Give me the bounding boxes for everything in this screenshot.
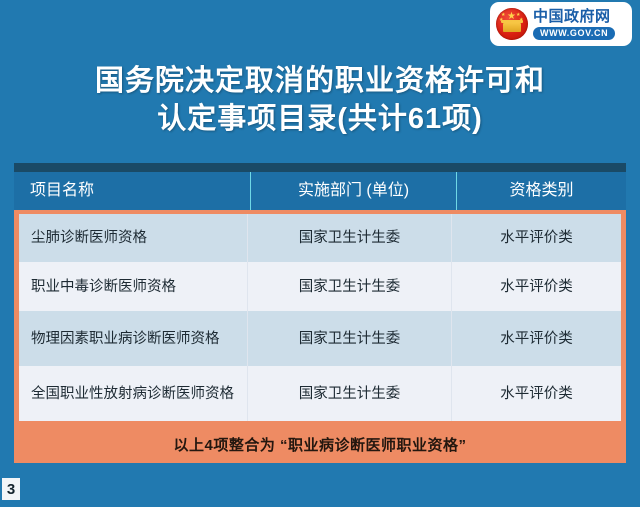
- table-top-accent-bar: [14, 163, 626, 172]
- cell-name: 尘肺诊断医师资格: [19, 214, 247, 262]
- national-emblem-icon: ★ ★ ★ ★ ★: [496, 8, 528, 40]
- cell-name: 职业中毒诊断医师资格: [19, 262, 247, 311]
- cell-department: 国家卫生计生委: [247, 366, 451, 421]
- page-number-badge: 3: [2, 478, 20, 500]
- cell-category: 水平评价类: [451, 262, 621, 311]
- page-title-line2: 认定事项目录(共计61项): [0, 100, 640, 138]
- table-header-row: 项目名称 实施部门 (单位) 资格类别: [14, 172, 626, 210]
- slide: ★ ★ ★ ★ ★ 中国政府网 WWW.GOV.CN 国务院决定取消的职业资格许…: [0, 0, 640, 507]
- page-title: 国务院决定取消的职业资格许可和 认定事项目录(共计61项): [0, 62, 640, 138]
- column-header-department: 实施部门 (单位): [250, 172, 456, 210]
- cell-department: 国家卫生计生委: [247, 311, 451, 366]
- page-title-line1: 国务院决定取消的职业资格许可和: [0, 62, 640, 100]
- cell-department: 国家卫生计生委: [247, 214, 451, 262]
- table-row[interactable]: 职业中毒诊断医师资格 国家卫生计生委 水平评价类: [19, 262, 621, 311]
- column-header-name: 项目名称: [14, 172, 250, 210]
- table-footnote: 以上4项整合为 “职业病诊断医师职业资格”: [14, 426, 626, 463]
- site-name: 中国政府网: [533, 9, 615, 25]
- cell-department: 国家卫生计生委: [247, 262, 451, 311]
- cell-category: 水平评价类: [451, 311, 621, 366]
- cell-name: 全国职业性放射病诊断医师资格: [19, 366, 247, 421]
- qualification-table: 项目名称 实施部门 (单位) 资格类别 尘肺诊断医师资格 国家卫生计生委 水平评…: [14, 163, 626, 463]
- table-row[interactable]: 全国职业性放射病诊断医师资格 国家卫生计生委 水平评价类: [19, 366, 621, 421]
- column-header-category: 资格类别: [456, 172, 626, 210]
- table-row[interactable]: 尘肺诊断医师资格 国家卫生计生委 水平评价类: [19, 214, 621, 262]
- site-url-pill[interactable]: WWW.GOV.CN: [533, 27, 615, 40]
- logo-text-group: 中国政府网 WWW.GOV.CN: [533, 9, 615, 40]
- cell-category: 水平评价类: [451, 214, 621, 262]
- emblem-gate-icon: [503, 23, 521, 32]
- table-body: 尘肺诊断医师资格 国家卫生计生委 水平评价类 职业中毒诊断医师资格 国家卫生计生…: [14, 210, 626, 426]
- cell-category: 水平评价类: [451, 366, 621, 421]
- table-row[interactable]: 物理因素职业病诊断医师资格 国家卫生计生委 水平评价类: [19, 311, 621, 366]
- gov-logo-card[interactable]: ★ ★ ★ ★ ★ 中国政府网 WWW.GOV.CN: [490, 2, 632, 46]
- cell-name: 物理因素职业病诊断医师资格: [19, 311, 247, 366]
